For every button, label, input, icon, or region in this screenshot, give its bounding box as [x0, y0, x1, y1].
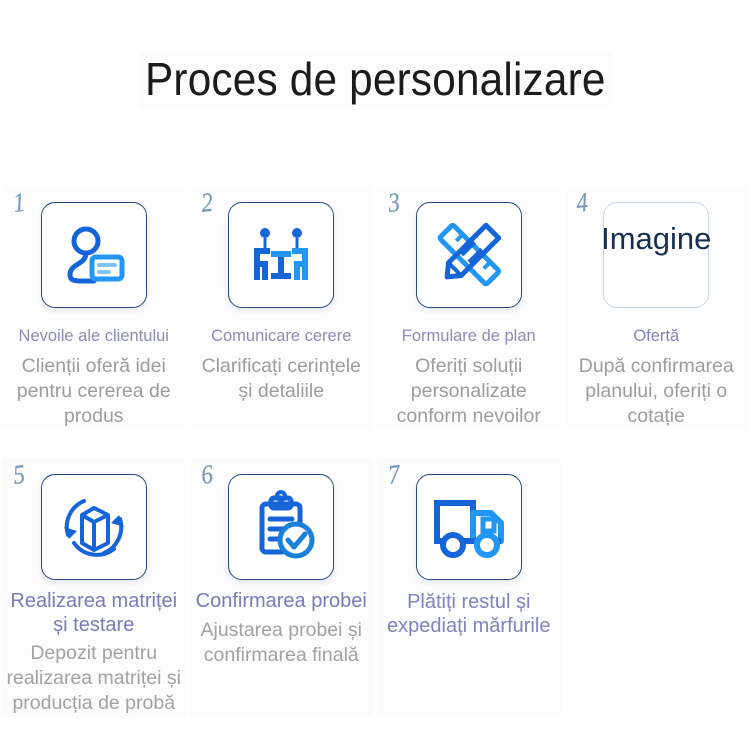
process-step-5[interactable]: 5 Realizarea matriței și testare Depozit…	[2, 458, 186, 716]
step-number-4: 4	[575, 189, 589, 217]
step-description-5: Depozit pentru realizarea matriței și pr…	[2, 641, 186, 716]
step-heading-3: Formulare de plan	[377, 326, 561, 347]
step-number-5: 5	[12, 461, 26, 489]
step-heading-6: Confirmarea probei	[190, 590, 374, 614]
step-number-7: 7	[387, 461, 401, 489]
user-id-card-icon	[41, 202, 147, 308]
step-description-6: Ajustarea probei și confirmarea finală	[190, 618, 374, 668]
process-row-2: 5 Realizarea matriței și testare Depozit…	[0, 458, 750, 716]
step-number-2: 2	[200, 189, 214, 217]
step-description-4: După confirmarea planului, oferiți o cot…	[565, 354, 749, 429]
image-alt-text: Imagine	[601, 223, 711, 254]
delivery-truck-icon	[416, 474, 522, 580]
process-row-1: 1 Nevoile ale clientului Clienții oferă …	[0, 186, 750, 429]
page-title: Proces de personalizare	[139, 52, 611, 107]
step-description-3: Oferiți soluții personalizate conform ne…	[377, 354, 561, 429]
step-heading-2: Comunicare cerere	[190, 326, 374, 347]
box-rotation-mold-icon	[41, 474, 147, 580]
step-number-1: 1	[12, 189, 26, 217]
broken-image-placeholder: Imagine	[603, 202, 709, 308]
step-description-1: Clienții oferă idei pentru cererea de pr…	[2, 354, 186, 429]
page-title-container: Proces de personalizare	[0, 52, 750, 107]
step-description-2: Clarificați cerințele și detaliile	[190, 354, 374, 404]
step-heading-1: Nevoile ale clientului	[2, 326, 186, 347]
process-step-7[interactable]: 7 Plătiți restul și expediați mărfurile	[377, 458, 561, 716]
process-step-2[interactable]: 2 Comunicare cerere Clarificați cerințel…	[190, 186, 374, 429]
clipboard-check-icon	[228, 474, 334, 580]
step-heading-4: Ofertă	[565, 326, 749, 347]
process-row-2-spacer	[565, 458, 749, 716]
step-number-6: 6	[200, 461, 214, 489]
meeting-communication-icon	[228, 202, 334, 308]
process-step-1[interactable]: 1 Nevoile ale clientului Clienții oferă …	[2, 186, 186, 429]
process-step-6[interactable]: 6 Confirmarea probei Ajustarea probei și…	[190, 458, 374, 716]
ruler-pencil-icon	[416, 202, 522, 308]
page-background: Proces de personalizare 1 Nevoile ale cl…	[0, 0, 750, 750]
step-number-3: 3	[387, 189, 401, 217]
process-step-3[interactable]: 3	[377, 186, 561, 429]
step-heading-5: Realizarea matriței și testare	[2, 590, 186, 637]
step-heading-7: Plătiți restul și expediați mărfurile	[377, 590, 561, 638]
process-step-4[interactable]: 4 Imagine Ofertă După confirmarea planul…	[565, 186, 749, 429]
